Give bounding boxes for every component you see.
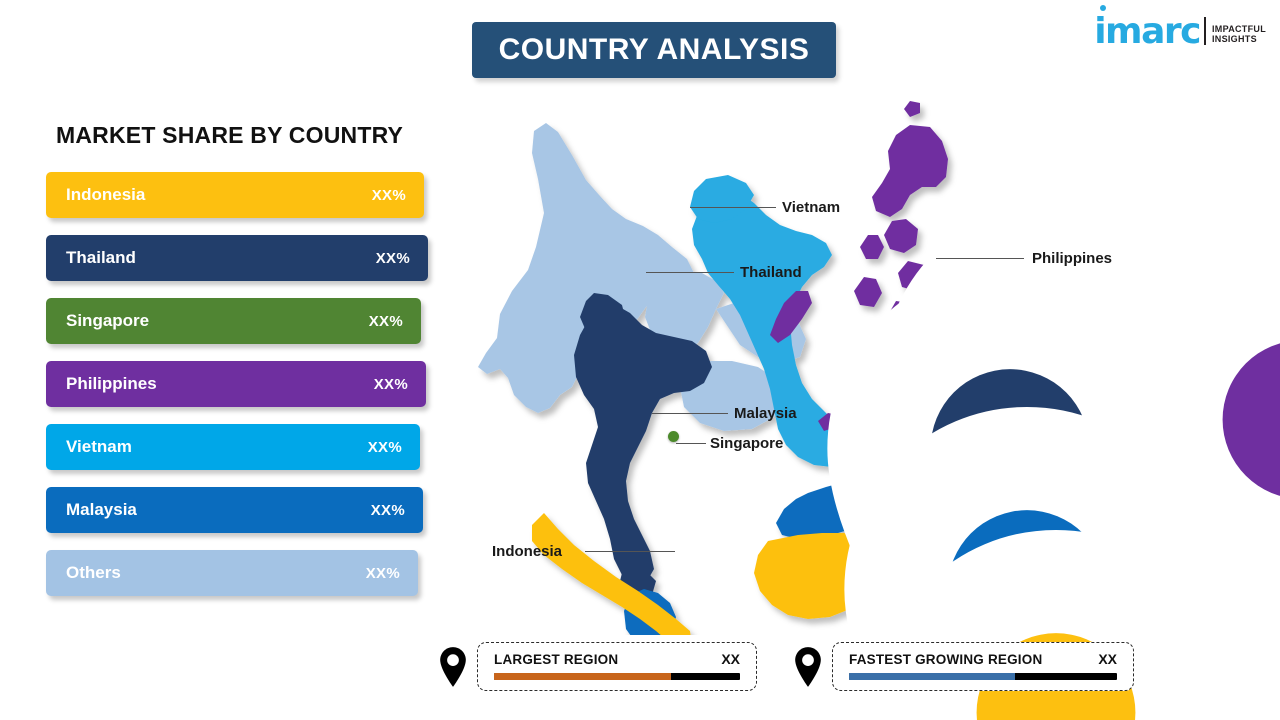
logo-wordmark: imarc	[1094, 16, 1200, 48]
fastest-growing-region-box: FASTEST GROWING REGION XX	[832, 642, 1134, 691]
bar-value: XX%	[369, 313, 403, 330]
bar-label: Philippines	[66, 374, 157, 394]
footer-legend: LARGEST REGION XX FASTEST GROWING REGION…	[0, 642, 1280, 704]
market-share-bar-list: IndonesiaXX%ThailandXX%SingaporeXX%Phili…	[46, 172, 436, 613]
logo-divider	[1204, 17, 1206, 45]
largest-region-progress-fill	[494, 673, 671, 680]
fastest-growing-region-progress-fill	[849, 673, 1015, 680]
bar-value: XX%	[376, 250, 410, 267]
leader-line-malaysia	[652, 413, 728, 414]
logo-tagline-line2: INSIGHTS	[1212, 34, 1266, 44]
leader-line-thailand	[646, 272, 734, 273]
logo-tagline: IMPACTFUL INSIGHTS	[1212, 24, 1266, 45]
fastest-growing-region-value: XX	[1098, 651, 1117, 667]
slide-canvas: COUNTRY ANALYSIS imarc IMPACTFUL INSIGHT…	[0, 0, 1280, 720]
bar-value: XX%	[374, 376, 408, 393]
leader-line-indonesia	[585, 551, 675, 552]
largest-region-progress-track	[494, 673, 740, 680]
bar-label: Others	[66, 563, 121, 583]
bar-value: XX%	[372, 187, 406, 204]
market-share-bar-thailand[interactable]: ThailandXX%	[46, 235, 428, 281]
bar-label: Singapore	[66, 311, 149, 331]
fastest-growing-region-label: FASTEST GROWING REGION	[849, 652, 1042, 667]
footer-item-largest-region: LARGEST REGION XX	[438, 642, 757, 691]
market-share-bar-others[interactable]: OthersXX%	[46, 550, 418, 596]
market-share-bar-singapore[interactable]: SingaporeXX%	[46, 298, 421, 344]
map-label-malaysia: Malaysia	[734, 405, 797, 422]
map-pin-singapore	[668, 431, 679, 442]
imarc-logo: imarc IMPACTFUL INSIGHTS	[1094, 16, 1266, 48]
location-pin-icon	[438, 646, 468, 688]
map-label-philippines: Philippines	[1032, 250, 1112, 267]
logo-tagline-line1: IMPACTFUL	[1212, 24, 1266, 34]
market-share-bar-philippines[interactable]: PhilippinesXX%	[46, 361, 426, 407]
bar-label: Vietnam	[66, 437, 132, 457]
logo-wordmark-text: imarc	[1094, 11, 1200, 52]
map-label-indonesia: Indonesia	[492, 543, 562, 560]
market-share-bar-vietnam[interactable]: VietnamXX%	[46, 424, 420, 470]
fastest-growing-region-progress-track	[849, 673, 1117, 680]
largest-region-box: LARGEST REGION XX	[477, 642, 757, 691]
market-share-bar-indonesia[interactable]: IndonesiaXX%	[46, 172, 424, 218]
largest-region-label: LARGEST REGION	[494, 652, 618, 667]
page-title-banner: COUNTRY ANALYSIS	[472, 22, 836, 78]
map-label-thailand: Thailand	[740, 264, 802, 281]
bar-label: Thailand	[66, 248, 136, 268]
leader-line-singapore	[676, 443, 706, 444]
map-label-singapore: Singapore	[710, 435, 783, 452]
market-share-bar-malaysia[interactable]: MalaysiaXX%	[46, 487, 423, 533]
bar-value: XX%	[368, 439, 402, 456]
page-title: COUNTRY ANALYSIS	[499, 33, 810, 67]
footer-item-fastest-growing-region: FASTEST GROWING REGION XX	[793, 642, 1134, 691]
leader-line-philippines	[936, 258, 1024, 259]
market-share-heading: MARKET SHARE BY COUNTRY	[56, 122, 403, 149]
bar-label: Indonesia	[66, 185, 145, 205]
leader-line-vietnam	[690, 207, 776, 208]
bar-value: XX%	[366, 565, 400, 582]
map-region-philippines-batanes	[904, 101, 920, 117]
largest-region-value: XX	[721, 651, 740, 667]
map-label-vietnam: Vietnam	[782, 199, 840, 216]
bar-value: XX%	[371, 502, 405, 519]
location-pin-icon-2	[793, 646, 823, 688]
bar-label: Malaysia	[66, 500, 137, 520]
